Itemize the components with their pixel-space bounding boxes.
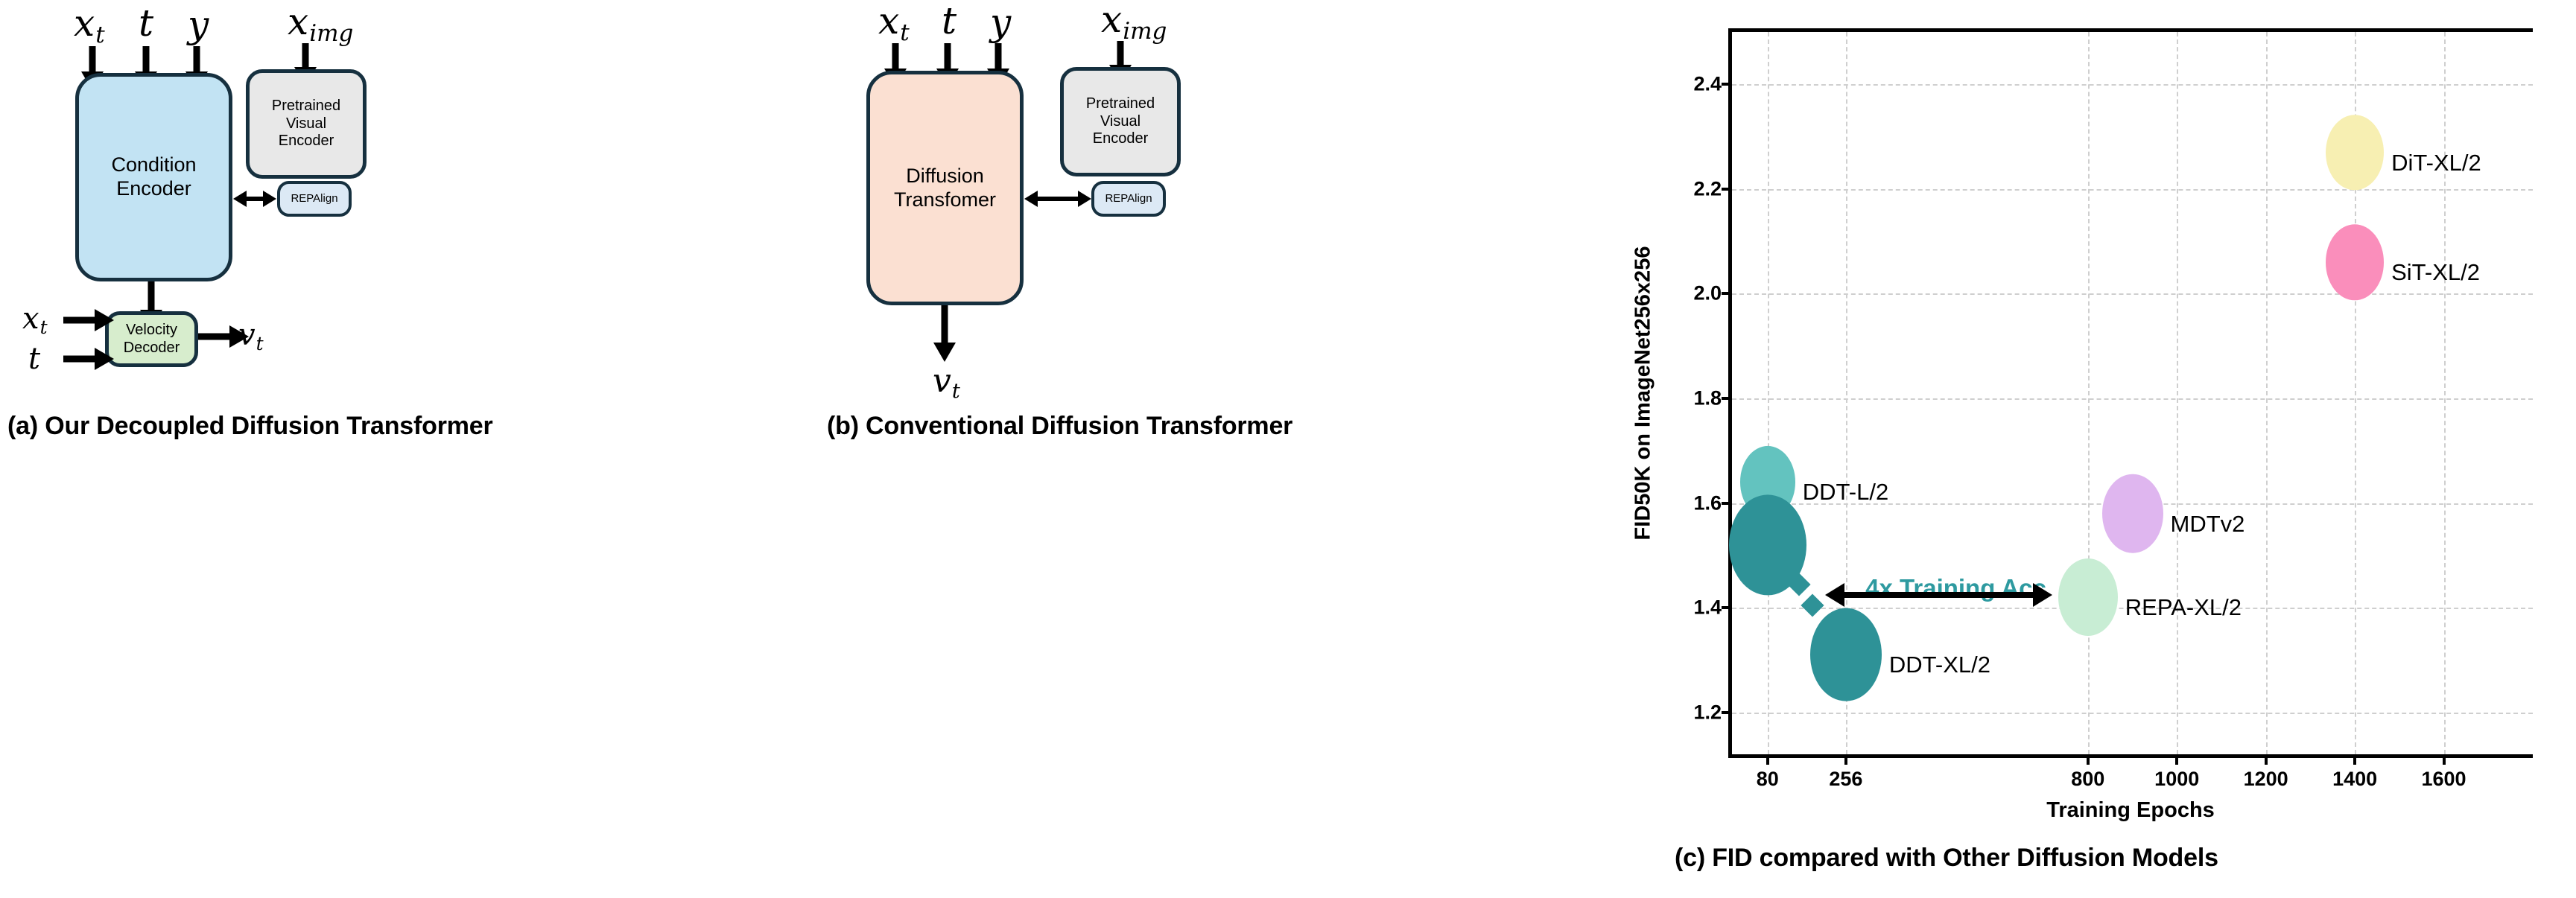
chart-gridline-v	[2177, 32, 2178, 754]
chart-point-label: DiT-XL/2	[2391, 150, 2481, 176]
chart-point-label: REPA-XL/2	[2125, 594, 2242, 621]
figure-root: xt t y ximg Condition Encoder	[0, 0, 2576, 898]
chart-x-axis-label: Training Epochs	[2046, 798, 2215, 823]
chart-x-tick-label: 80	[1757, 768, 1779, 791]
chart-y-tickmark	[1722, 502, 1732, 505]
chart-x-tickmark	[2175, 754, 2178, 765]
visual-encoder-line2: Visual	[286, 115, 326, 133]
chart-point-label: MDTv2	[2171, 511, 2245, 538]
chart-y-tick-label: 2.0	[1693, 282, 1722, 305]
condition-encoder-line2: Encoder	[116, 177, 191, 201]
caption-a: (a) Our Decoupled Diffusion Transformer	[7, 412, 493, 441]
chart-y-tick-label: 2.4	[1693, 73, 1722, 96]
chart-y-tickmark	[1722, 711, 1732, 714]
panel-b: xt t y ximg Diffusion Transfomer	[819, 0, 1624, 898]
diffusion-transformer-line1: Diffusion	[906, 165, 984, 188]
chart-x-tick-label: 1200	[2244, 768, 2288, 791]
panel-b-output-vt: vt	[933, 365, 960, 401]
chart-bubble[interactable]	[2102, 474, 2163, 553]
chart-x-tick-label: 800	[2071, 768, 2104, 791]
chart-gridline-h	[1732, 84, 2533, 86]
chart-plot-area: 1.21.41.61.82.02.22.48025680010001200140…	[1728, 28, 2533, 758]
panel-a-input-t: t	[139, 4, 153, 42]
chart-x-tick-label: 1400	[2332, 768, 2377, 791]
chart-y-tick-label: 1.4	[1693, 596, 1722, 620]
chart-y-tickmark	[1722, 606, 1732, 609]
chart-gridline-v	[2088, 32, 2090, 754]
panel-a-input-ximg: ximg	[288, 3, 353, 45]
panel-b-input-ximg: ximg	[1101, 1, 1167, 43]
chart-y-tickmark	[1722, 83, 1732, 86]
chart-x-tickmark	[2443, 754, 2446, 765]
velocity-decoder-box: Velocity Decoder	[105, 311, 198, 367]
chart-x-tickmark	[2353, 754, 2356, 765]
chart-x-tick-label: 1000	[2154, 768, 2199, 791]
panel-b-input-xt: xt	[878, 2, 910, 45]
chart-point-label: DDT-L/2	[1803, 479, 1888, 506]
chart-trend-diamond	[1801, 593, 1824, 617]
caption-b: (b) Conventional Diffusion Transformer	[827, 412, 1292, 441]
condition-encoder-box: Condition Encoder	[75, 73, 232, 281]
velocity-decoder-line1: Velocity	[126, 322, 177, 340]
chart-bubble[interactable]	[2326, 115, 2384, 190]
chart-gridline-v	[1768, 32, 1769, 754]
panel-b-input-y: y	[990, 4, 1011, 41]
panel-a-output-vt: vt	[238, 320, 264, 354]
decoder-input-t: t	[28, 344, 40, 374]
visual-encoder-box-b: Pretrained Visual Encoder	[1060, 67, 1181, 176]
visual-encoder-b-line1: Pretrained	[1086, 95, 1155, 113]
repalign-box-a: REPAlign	[277, 181, 352, 217]
chart-x-tickmark	[1766, 754, 1769, 765]
chart-annotation-training-acc: 4x Training Acc	[1865, 574, 2046, 602]
panel-b-input-t: t	[942, 2, 957, 39]
chart-x-tickmark	[2265, 754, 2268, 765]
chart-gridline-h	[1732, 398, 2533, 400]
chart-y-tick-label: 1.8	[1693, 387, 1722, 410]
chart-y-axis-label: FID50K on ImageNet256x256	[1631, 246, 1656, 541]
chart-gridline-h	[1732, 713, 2533, 714]
chart-y-tickmark	[1722, 188, 1732, 191]
velocity-decoder-line2: Decoder	[124, 340, 180, 357]
chart-gridline-v	[2444, 32, 2446, 754]
diffusion-transformer-line2: Transfomer	[894, 188, 996, 212]
chart-x-tickmark	[2087, 754, 2090, 765]
decoder-input-xt: xt	[22, 304, 48, 337]
chart-y-tickmark	[1722, 397, 1732, 400]
chart-gridline-v	[2266, 32, 2268, 754]
caption-c: (c) FID compared with Other Diffusion Mo…	[1675, 844, 2218, 873]
visual-encoder-line1: Pretrained	[272, 98, 340, 115]
visual-encoder-line3: Encoder	[279, 133, 334, 150]
chart-point-label: DDT-XL/2	[1889, 652, 1990, 678]
panel-a-input-xt: xt	[74, 4, 105, 47]
condition-encoder-line1: Condition	[111, 153, 196, 177]
visual-encoder-b-line2: Visual	[1100, 113, 1141, 131]
diffusion-transformer-box: Diffusion Transfomer	[866, 71, 1024, 305]
chart-y-tick-label: 2.2	[1693, 177, 1722, 200]
chart-y-tick-label: 1.6	[1693, 491, 1722, 515]
chart-point-label: SiT-XL/2	[2391, 259, 2480, 286]
chart-bubble[interactable]	[2326, 225, 2384, 300]
repalign-box-b: REPAlign	[1091, 181, 1166, 217]
chart-bubble[interactable]	[1810, 608, 1882, 701]
chart-x-tick-label: 256	[1829, 768, 1862, 791]
panel-a-input-y: y	[188, 6, 209, 43]
chart-x-tick-label: 1600	[2422, 768, 2466, 791]
chart-gridline-h	[1732, 293, 2533, 295]
repalign-label-a: REPAlign	[291, 192, 337, 206]
visual-encoder-box-a: Pretrained Visual Encoder	[246, 69, 367, 179]
chart-y-tick-label: 1.2	[1693, 701, 1722, 724]
repalign-label-b: REPAlign	[1105, 192, 1152, 206]
chart-x-tickmark	[1844, 754, 1847, 765]
chart-y-tickmark	[1722, 292, 1732, 295]
visual-encoder-b-line3: Encoder	[1093, 130, 1149, 148]
panel-c: FID50K on ImageNet256x256 Training Epoch…	[1624, 0, 2576, 838]
panel-a: xt t y ximg Condition Encoder	[0, 0, 819, 898]
chart-bubble[interactable]	[2058, 558, 2118, 636]
chart-gridline-h	[1732, 189, 2533, 191]
